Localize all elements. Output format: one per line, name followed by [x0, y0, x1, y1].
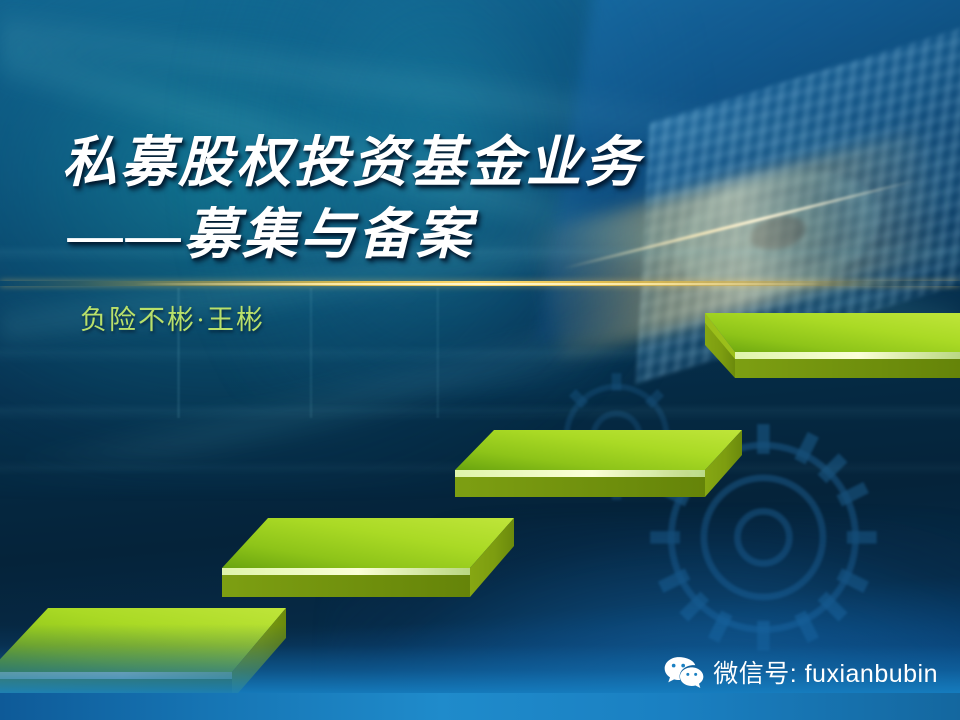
- title-block: 私募股权投资基金业务 ——募集与备案: [0, 128, 760, 270]
- gold-divider-highlight: [134, 283, 825, 285]
- slide-title-subtitle: ——募集与备案: [62, 200, 760, 270]
- wechat-icon: [664, 656, 704, 688]
- footer-solid-band: [0, 693, 960, 720]
- slide-author: 负险不彬·王彬: [80, 298, 265, 337]
- presentation-slide: 私募股权投资基金业务 ——募集与备案 负险不彬·王彬 微信号: fuxianbu…: [0, 0, 960, 720]
- wechat-watermark: 微信号: fuxianbubin: [664, 654, 938, 690]
- slide-title-main: 私募股权投资基金业务: [62, 128, 760, 198]
- wechat-label: 微信号: fuxianbubin: [713, 654, 938, 690]
